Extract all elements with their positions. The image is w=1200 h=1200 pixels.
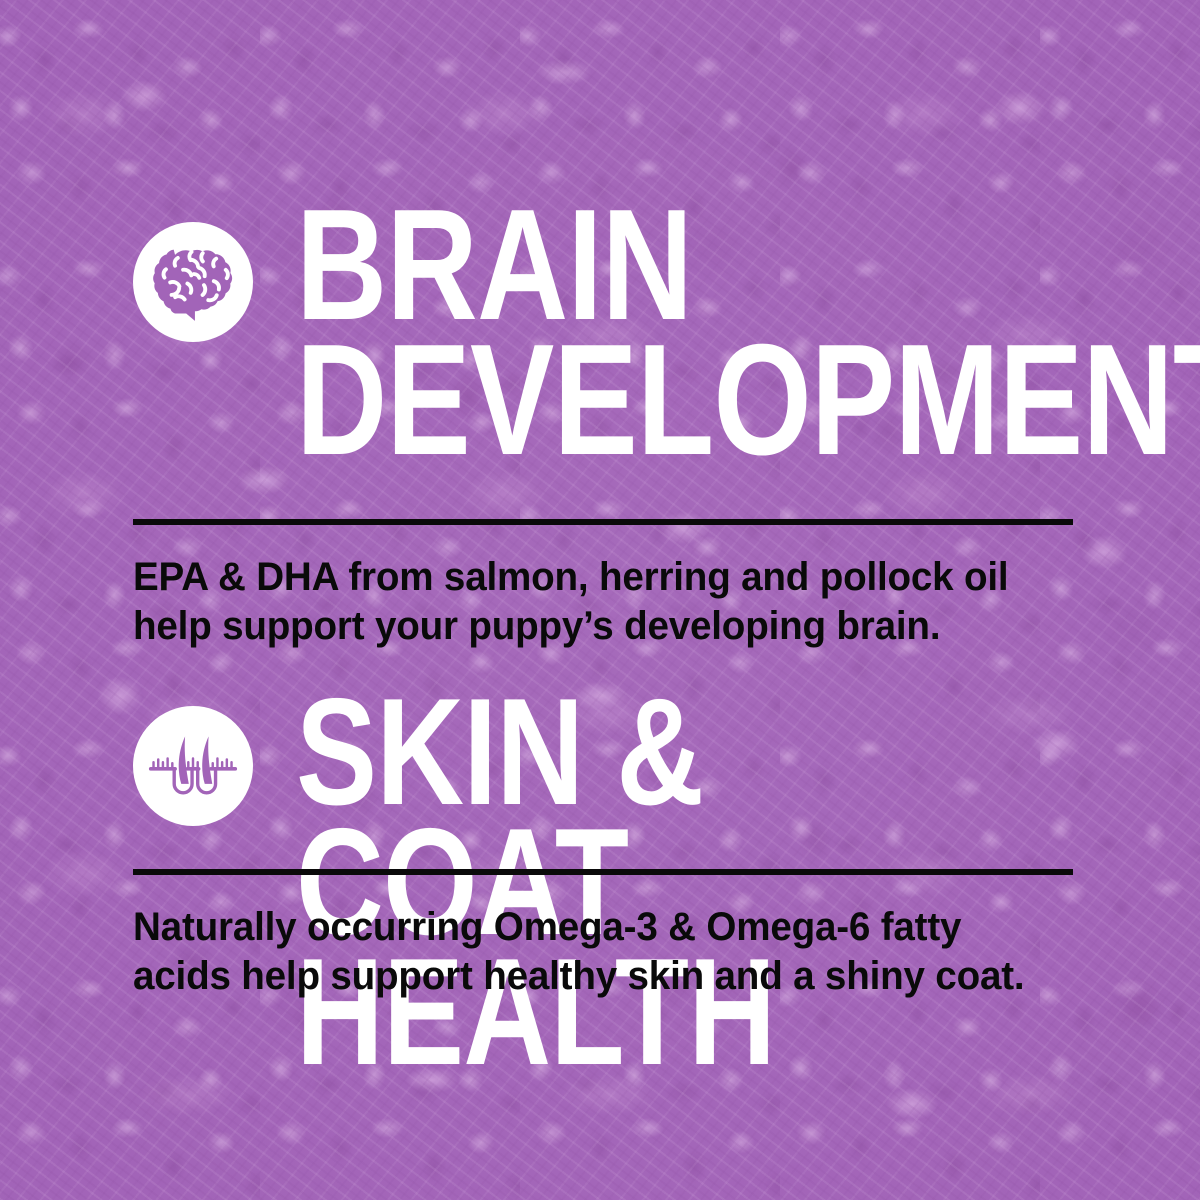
benefits-poster: BRAIN DEVELOPMENT EPA & DHA from salmon,… — [0, 0, 1200, 1200]
skin-divider-rule — [133, 869, 1073, 875]
brain-body-text: EPA & DHA from salmon, herring and pollo… — [133, 553, 1059, 651]
skin-heading: SKIN & COAT HEALTH — [296, 688, 1019, 1078]
section-skin-coat-health: SKIN & COAT HEALTH — [0, 700, 1200, 1078]
brain-divider-rule — [133, 519, 1073, 525]
hair-follicle-icon — [146, 719, 240, 813]
hair-follicle-icon-badge — [133, 706, 253, 826]
brain-icon-badge — [133, 222, 253, 342]
skin-heading-row: SKIN & COAT HEALTH — [0, 700, 1200, 1078]
brain-heading: BRAIN DEVELOPMENT — [296, 198, 1200, 468]
brain-heading-row: BRAIN DEVELOPMENT — [0, 212, 1200, 468]
poster-content: BRAIN DEVELOPMENT EPA & DHA from salmon,… — [0, 0, 1200, 1200]
section-brain-development: BRAIN DEVELOPMENT — [0, 212, 1200, 468]
brain-icon — [147, 236, 239, 328]
skin-body-text: Naturally occurring Omega-3 & Omega-6 fa… — [133, 903, 1059, 1001]
